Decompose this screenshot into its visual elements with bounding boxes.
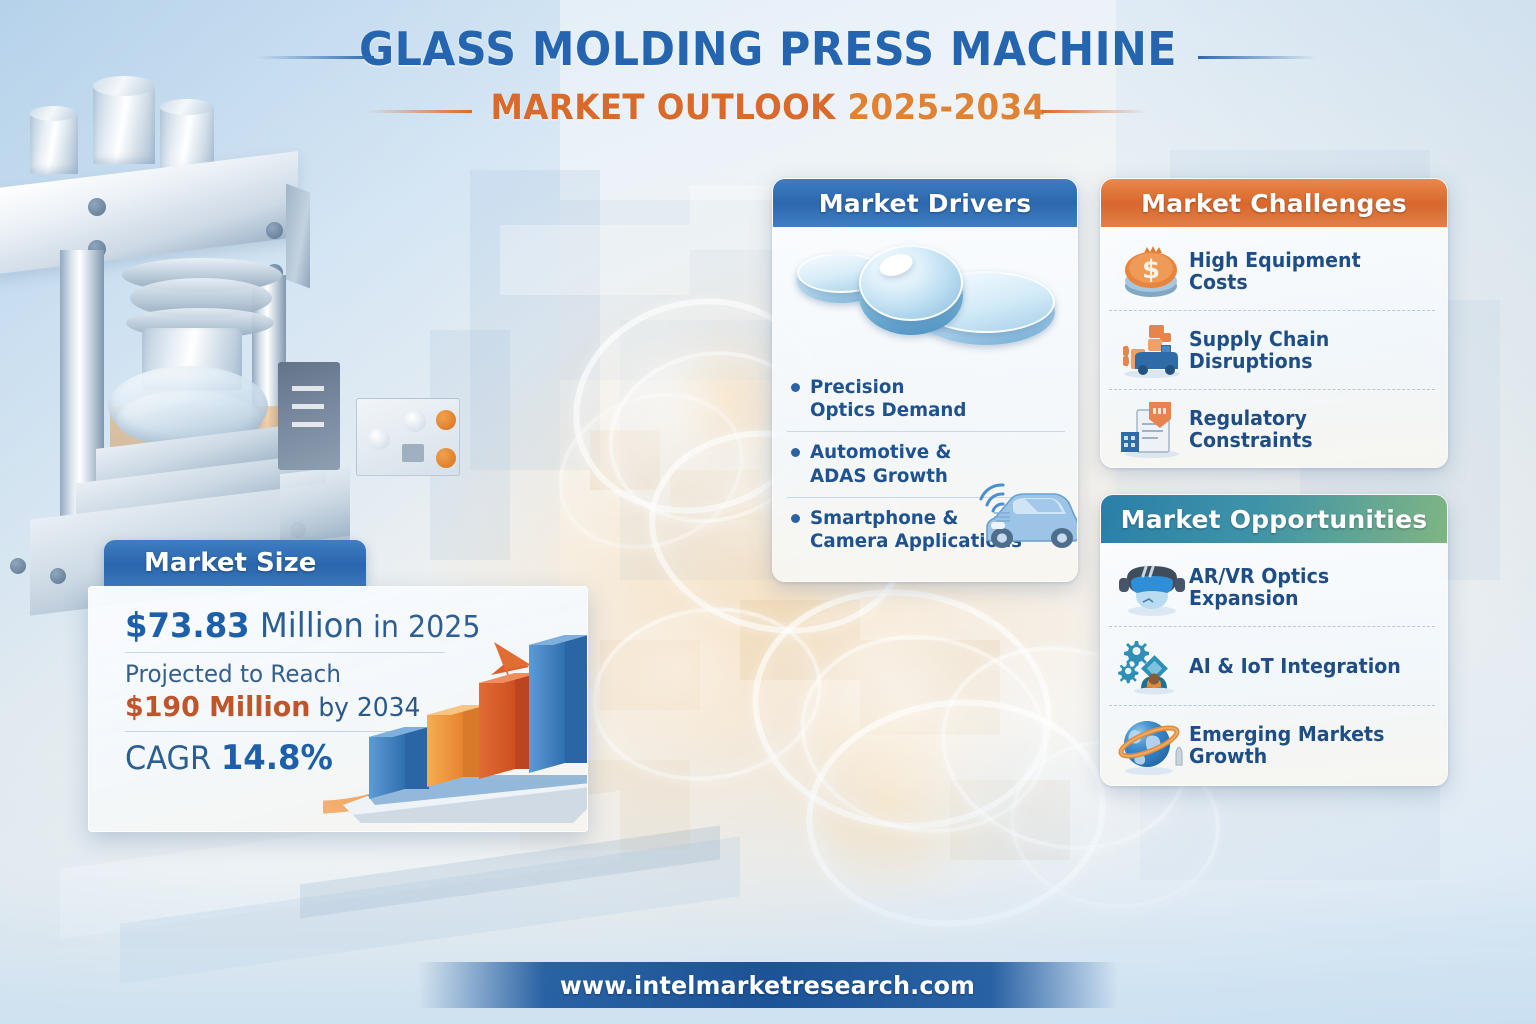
bg-floor xyxy=(300,825,720,918)
bg-block xyxy=(470,170,600,470)
market-opportunities-card[interactable]: Market Opportunities xyxy=(1100,494,1448,786)
market-challenges-heading: Market Challenges xyxy=(1101,179,1447,227)
machine-button xyxy=(368,428,390,450)
cagr-value: 14.8% xyxy=(221,738,333,778)
list-item[interactable]: Supply Chain Disruptions xyxy=(1109,310,1435,389)
market-size-heading: Market Size xyxy=(104,540,366,586)
market-opportunities-heading: Market Opportunities xyxy=(1101,495,1447,543)
machine-button xyxy=(436,448,456,468)
market-drivers-body: Precision Optics Demand Automotive & ADA… xyxy=(773,227,1077,582)
left-sky-gradient xyxy=(0,0,560,1024)
glass-lens xyxy=(581,593,833,795)
page-title: GLASS MOLDING PRESS MACHINE xyxy=(54,22,1482,76)
list-item[interactable]: Regulatory Constraints xyxy=(1109,389,1435,468)
challenge-label-1: Supply Chain Disruptions xyxy=(1189,328,1423,372)
bullet-icon xyxy=(791,514,800,523)
market-drivers-card[interactable]: Market Drivers Precision Optics Demand xyxy=(772,178,1078,582)
page-subtitle: MARKET OUTLOOK 2025-2034 xyxy=(54,88,1482,128)
glass-lens xyxy=(795,685,1117,941)
title-rule-right xyxy=(1198,56,1316,59)
bg-block xyxy=(560,200,800,380)
cagr-label: CAGR xyxy=(125,739,221,777)
current-value: $73.83 xyxy=(125,606,250,646)
projection-value: $190 Million xyxy=(125,690,310,723)
bg-block xyxy=(430,330,510,560)
market-size-card[interactable]: $73.83 Million in 2025 Projected to Reac… xyxy=(88,586,588,832)
opportunity-label-2: Emerging Markets Growth xyxy=(1189,723,1423,767)
market-challenges-body: $ High Equipment Costs xyxy=(1101,227,1447,468)
glass-lens xyxy=(785,616,1063,852)
glass-lens xyxy=(535,366,767,576)
vr-headset-icon xyxy=(1115,556,1189,618)
driver-label-0: Precision Optics Demand xyxy=(810,376,966,422)
growth-bar-chart xyxy=(323,609,588,832)
supply-chain-icon xyxy=(1115,319,1189,381)
opportunity-label-1: AI & IoT Integration xyxy=(1189,655,1401,677)
subtitle-rule-right xyxy=(1042,110,1148,113)
globe-orbit-icon xyxy=(1115,714,1189,776)
machine-button xyxy=(404,410,426,432)
bg-block xyxy=(500,225,690,295)
market-drivers-heading: Market Drivers xyxy=(773,179,1077,227)
list-item[interactable]: AI & IoT Integration xyxy=(1109,626,1435,705)
footer-url-bar[interactable]: www.intelmarketresearch.com xyxy=(418,962,1118,1008)
title-rule-left xyxy=(256,56,374,59)
market-opportunities-body: AR/VR Optics Expansion xyxy=(1101,543,1447,786)
document-regulation-icon xyxy=(1115,398,1189,460)
infographic-canvas: GLASS MOLDING PRESS MACHINE MARKET OUTLO… xyxy=(0,0,1536,1024)
challenge-label-2: Regulatory Constraints xyxy=(1189,407,1423,451)
bullet-icon xyxy=(791,448,800,457)
bullet-icon xyxy=(791,383,800,392)
footer: www.intelmarketresearch.com xyxy=(0,948,1536,1024)
bg-block xyxy=(950,780,1070,860)
challenge-label-0: High Equipment Costs xyxy=(1189,249,1423,293)
machine-button xyxy=(436,410,456,430)
bg-block xyxy=(600,640,700,710)
driver-label-1: Automotive & ADAS Growth xyxy=(810,441,951,487)
bg-block xyxy=(740,600,860,680)
opportunity-label-0: AR/VR Optics Expansion xyxy=(1189,565,1423,609)
list-item[interactable]: Precision Optics Demand xyxy=(787,367,1065,431)
list-item[interactable]: $ High Equipment Costs xyxy=(1109,231,1435,310)
gears-ai-icon xyxy=(1115,635,1189,697)
bg-block xyxy=(670,470,760,520)
market-challenges-card[interactable]: Market Challenges $ High Equipment Costs xyxy=(1100,178,1448,468)
bg-block xyxy=(860,640,1000,735)
page-subtitle-block: MARKET OUTLOOK 2025-2034 xyxy=(0,88,1536,128)
svg-text:$: $ xyxy=(1142,255,1160,285)
light-burst xyxy=(760,700,1020,900)
lens-stack-icon xyxy=(793,237,1061,357)
bg-block xyxy=(590,430,660,490)
page-title-block: GLASS MOLDING PRESS MACHINE xyxy=(0,22,1536,76)
subtitle-rule-left xyxy=(366,110,472,113)
footer-url[interactable]: www.intelmarketresearch.com xyxy=(560,971,975,1000)
connected-car-icon xyxy=(963,465,1078,549)
money-coin-icon: $ xyxy=(1115,240,1189,302)
subtitle-years: 2025-2034 xyxy=(847,88,1045,128)
glass-lens xyxy=(737,570,1067,847)
list-item[interactable]: Emerging Markets Growth xyxy=(1109,705,1435,784)
subtitle-text: MARKET OUTLOOK xyxy=(490,88,847,128)
list-item[interactable]: AR/VR Optics Expansion xyxy=(1109,547,1435,626)
